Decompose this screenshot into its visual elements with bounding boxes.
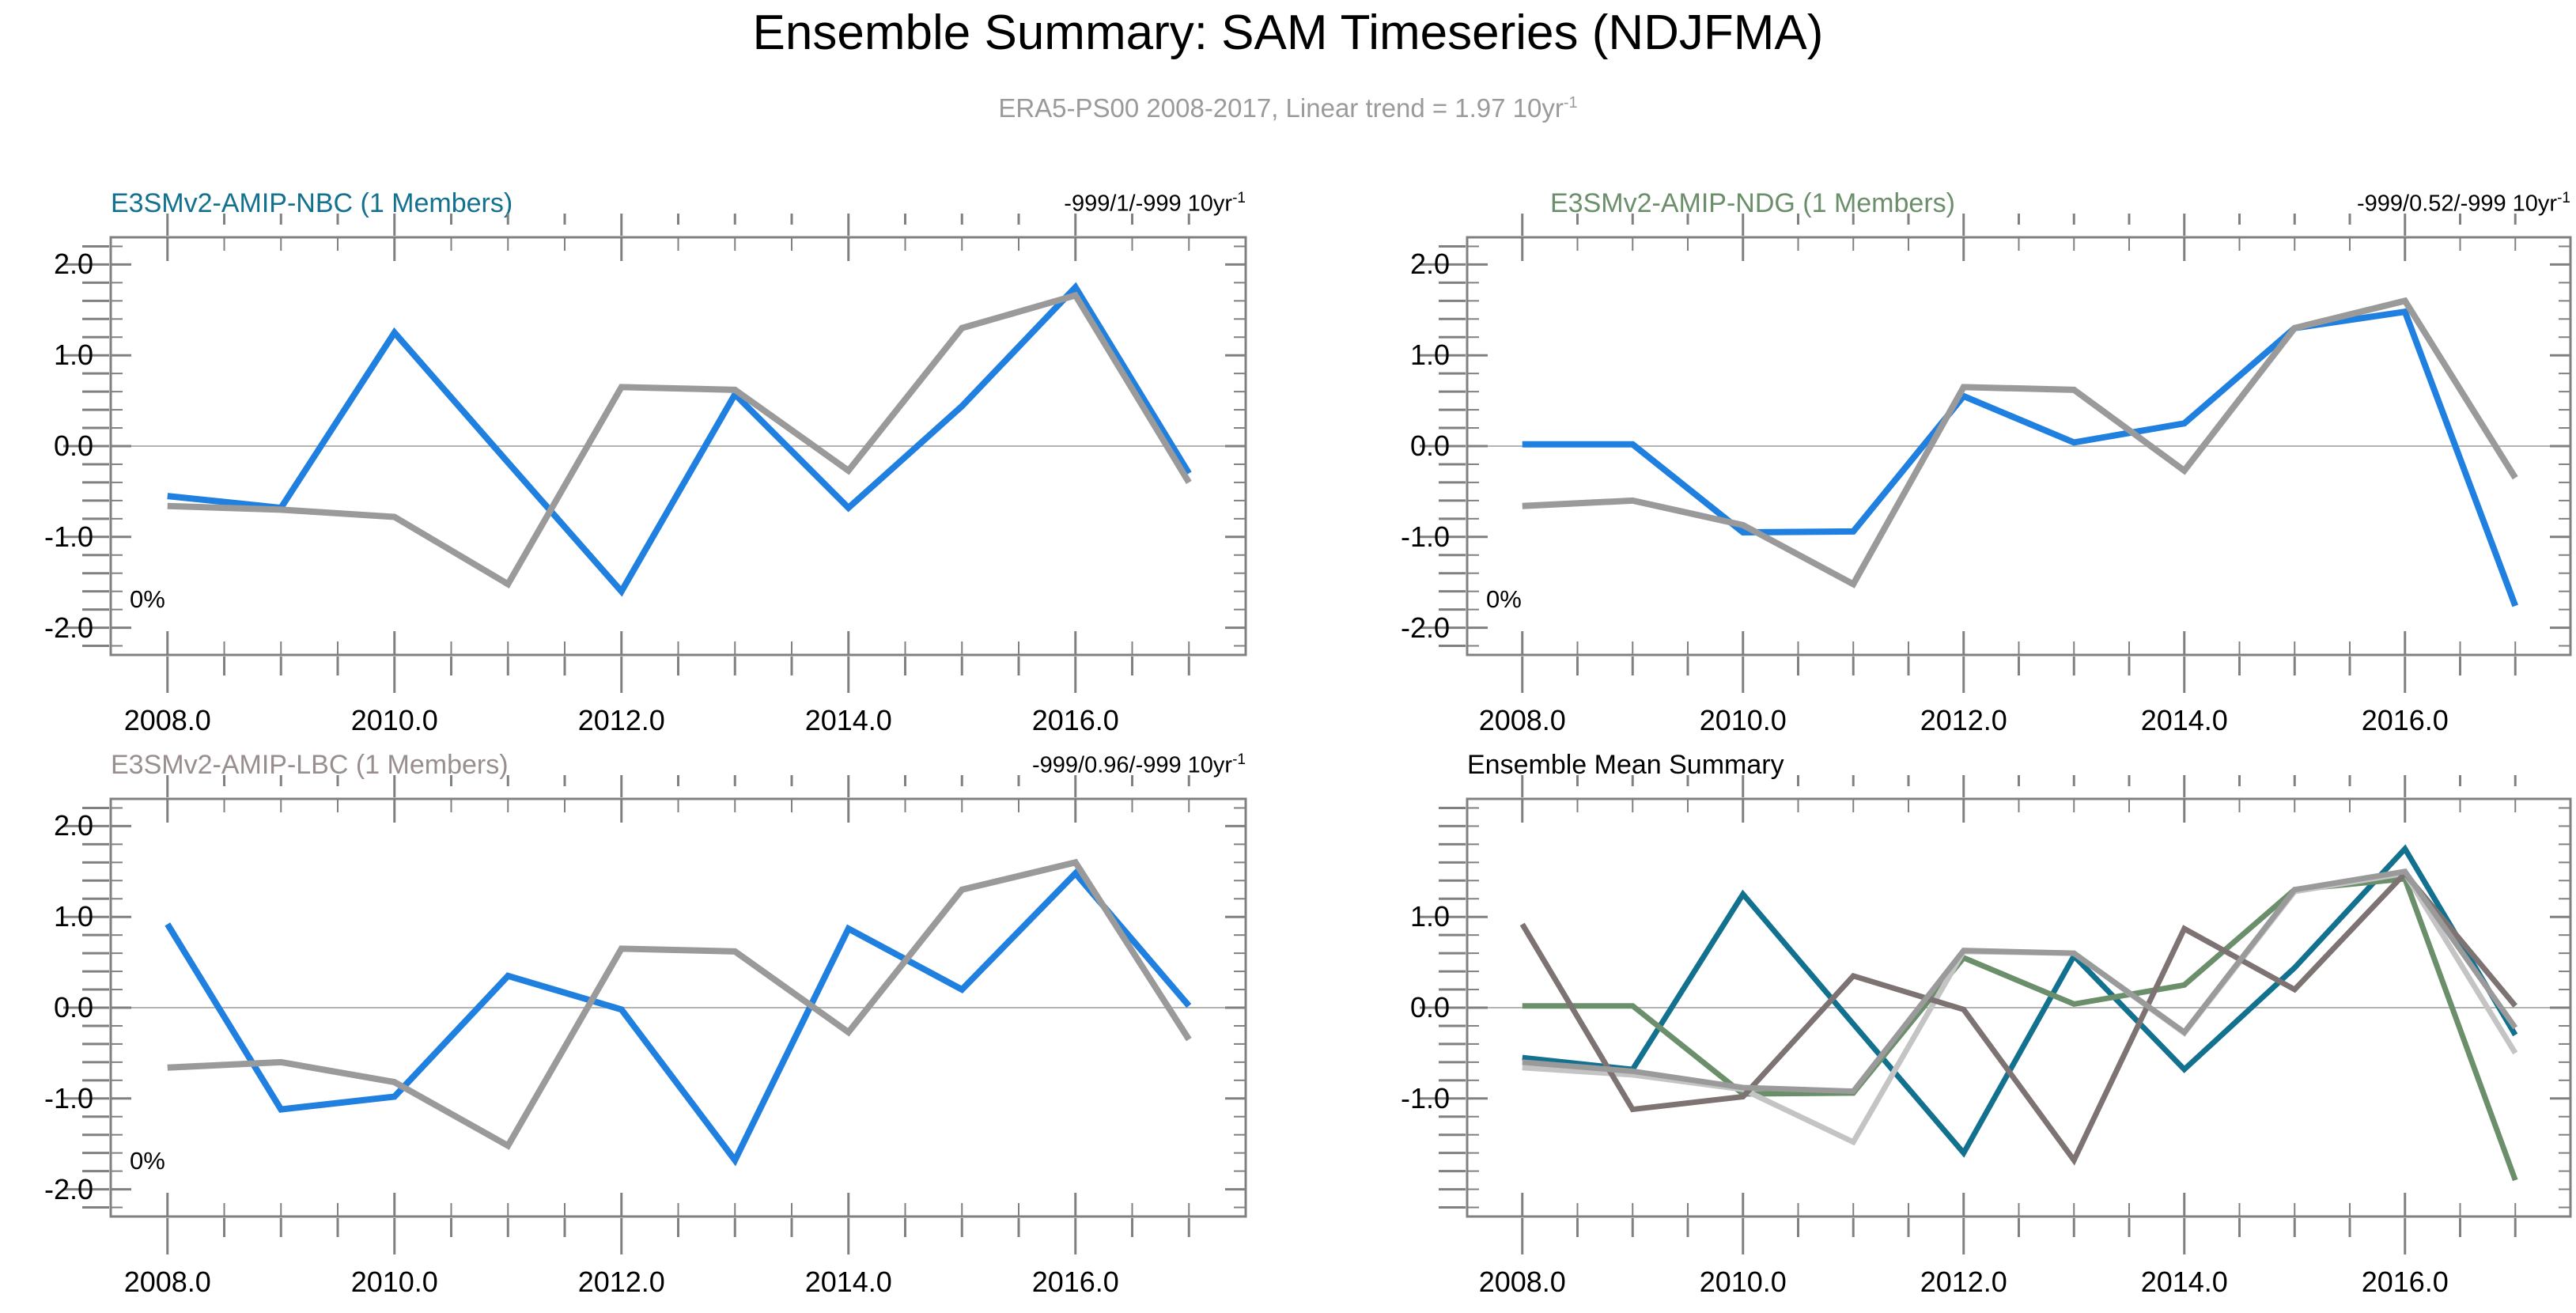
percent-label-nbc: 0%: [130, 585, 165, 614]
figure-title: Ensemble Summary: SAM Timeseries (NDJFMA…: [0, 5, 2576, 61]
x-tick-label-lbc: 2014.0: [805, 1266, 892, 1299]
y-tick-label-nbc: -2.0: [0, 611, 93, 645]
x-tick-label-summary: 2014.0: [2141, 1266, 2228, 1299]
y-tick-label-ndg: -1.0: [1323, 520, 1450, 554]
y-tick-label-nbc: 0.0: [0, 429, 93, 463]
panel-trend-ndg: -999/0.52/-999 10yr-1: [2357, 190, 2570, 218]
figure-root: Ensemble Summary: SAM Timeseries (NDJFMA…: [0, 0, 2576, 1313]
y-tick-label-summary: -1.0: [1323, 1082, 1450, 1115]
x-tick-label-summary: 2010.0: [1700, 1266, 1787, 1299]
panel-title-ndg: E3SMv2-AMIP-NDG (1 Members): [1550, 188, 1955, 219]
plot-svg-lbc: [111, 799, 1246, 1217]
series-line-summary-1: [1523, 879, 2516, 1180]
series-line-ndg-1: [1523, 301, 2516, 584]
y-tick-label-lbc: -1.0: [0, 1082, 93, 1115]
percent-label-lbc: 0%: [130, 1147, 165, 1175]
y-tick-label-lbc: 1.0: [0, 900, 93, 933]
y-tick-label-summary: 1.0: [1323, 900, 1450, 933]
panel-trend-value-nbc: -999/1/-999 10yr: [1064, 191, 1232, 217]
plot-svg-summary: [1467, 799, 2570, 1217]
x-tick-label-lbc: 2016.0: [1032, 1266, 1119, 1299]
panel-trend-exponent-lbc: -1: [1232, 751, 1246, 768]
x-tick-label-lbc: 2012.0: [578, 1266, 665, 1299]
panel-trend-lbc: -999/0.96/-999 10yr-1: [1032, 751, 1246, 779]
y-tick-label-ndg: -2.0: [1323, 611, 1450, 645]
x-tick-label-ndg: 2016.0: [2362, 704, 2449, 737]
series-line-nbc-1: [168, 295, 1190, 584]
panel-trend-nbc: -999/1/-999 10yr-1: [1064, 190, 1246, 218]
plot-svg-nbc: [111, 237, 1246, 655]
y-tick-label-ndg: 0.0: [1323, 429, 1450, 463]
x-tick-label-summary: 2016.0: [2362, 1266, 2449, 1299]
series-line-summary-3: [1523, 873, 2516, 1160]
figure-title-text: Ensemble Summary: SAM Timeseries (NDJFMA…: [753, 6, 1824, 60]
panel-title-summary: Ensemble Mean Summary: [1467, 750, 1784, 781]
y-tick-label-summary: 0.0: [1323, 991, 1450, 1024]
x-tick-label-nbc: 2014.0: [805, 704, 892, 737]
y-tick-label-nbc: -1.0: [0, 520, 93, 554]
panel-trend-exponent-ndg: -1: [2557, 190, 2570, 206]
x-tick-label-summary: 2008.0: [1479, 1266, 1566, 1299]
y-tick-label-lbc: -2.0: [0, 1173, 93, 1206]
y-tick-label-nbc: 1.0: [0, 339, 93, 372]
y-tick-label-nbc: 2.0: [0, 248, 93, 281]
figure-subtitle-exponent: -1: [1564, 94, 1578, 112]
panel-title-lbc: E3SMv2-AMIP-LBC (1 Members): [111, 750, 509, 781]
y-tick-label-lbc: 2.0: [0, 809, 93, 842]
x-tick-label-summary: 2012.0: [1920, 1266, 2007, 1299]
x-tick-label-lbc: 2008.0: [124, 1266, 211, 1299]
x-tick-label-ndg: 2010.0: [1700, 704, 1787, 737]
x-tick-label-ndg: 2012.0: [1920, 704, 2007, 737]
panel-trend-value-ndg: -999/0.52/-999 10yr: [2357, 191, 2557, 217]
x-tick-label-nbc: 2012.0: [578, 704, 665, 737]
figure-subtitle: ERA5-PS00 2008-2017, Linear trend = 1.97…: [0, 93, 2576, 123]
percent-label-ndg: 0%: [1486, 585, 1522, 614]
plot-area-nbc: [111, 237, 1246, 655]
y-tick-label-lbc: 0.0: [0, 991, 93, 1024]
x-tick-label-ndg: 2014.0: [2141, 704, 2228, 737]
x-tick-label-nbc: 2016.0: [1032, 704, 1119, 737]
y-tick-label-ndg: 2.0: [1323, 248, 1450, 281]
panel-trend-exponent-nbc: -1: [1232, 190, 1246, 206]
series-line-lbc-0: [168, 873, 1190, 1160]
series-line-ndg-0: [1523, 312, 2516, 606]
x-tick-label-nbc: 2008.0: [124, 704, 211, 737]
x-tick-label-nbc: 2010.0: [351, 704, 438, 737]
figure-subtitle-text: ERA5-PS00 2008-2017, Linear trend = 1.97…: [998, 93, 1564, 123]
plot-area-ndg: [1467, 237, 2570, 655]
plot-svg-ndg: [1467, 237, 2570, 655]
x-tick-label-ndg: 2008.0: [1479, 704, 1566, 737]
y-tick-label-ndg: 1.0: [1323, 339, 1450, 372]
plot-area-summary: [1467, 799, 2570, 1217]
plot-area-lbc: [111, 799, 1246, 1217]
panel-trend-value-lbc: -999/0.96/-999 10yr: [1032, 753, 1232, 778]
series-line-nbc-0: [168, 287, 1190, 592]
x-tick-label-lbc: 2010.0: [351, 1266, 438, 1299]
